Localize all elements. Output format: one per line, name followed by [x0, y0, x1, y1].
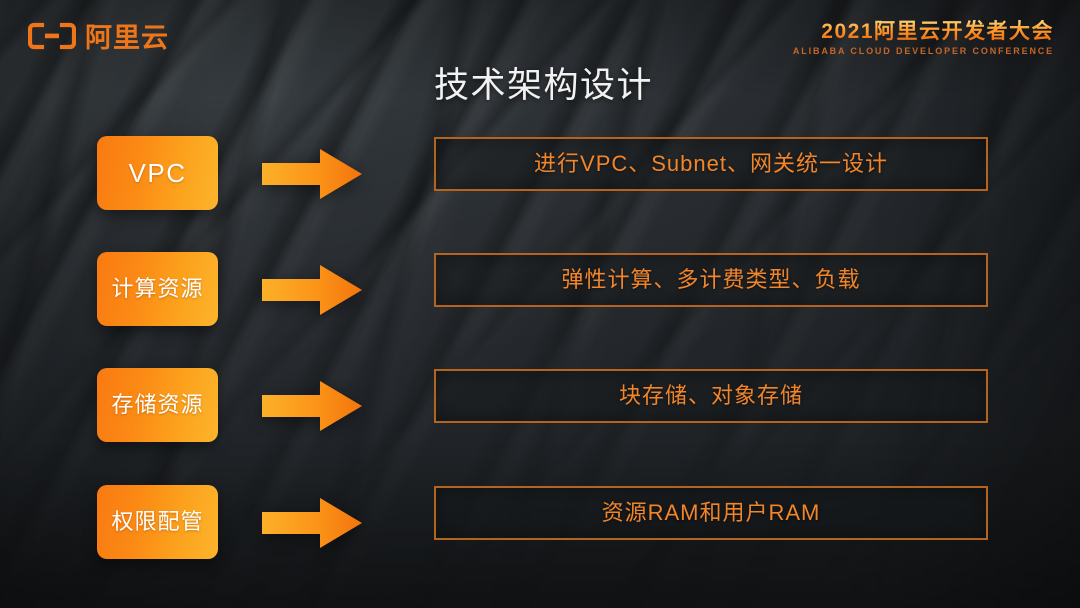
right-arrow-icon: [262, 149, 362, 199]
content-rows: VPC 进行VPC、Subnet、网关统一设计: [0, 0, 1080, 608]
content-row: 存储资源 块存储、对象存储: [0, 368, 1080, 442]
category-tag-label: 权限配管: [111, 511, 203, 533]
category-tag-storage-resources[interactable]: 存储资源: [97, 368, 218, 442]
content-row: 计算资源 弹性计算、多计费类型、负载: [0, 252, 1080, 326]
description-label: 块存储、对象存储: [619, 385, 803, 407]
category-tag-compute-resources[interactable]: 计算资源: [97, 252, 218, 326]
description-label: 进行VPC、Subnet、网关统一设计: [534, 153, 888, 175]
description-box: 资源RAM和用户RAM: [434, 486, 988, 540]
description-box: 块存储、对象存储: [434, 369, 988, 423]
description-label: 资源RAM和用户RAM: [602, 502, 821, 524]
description-label: 弹性计算、多计费类型、负载: [561, 269, 860, 291]
content-row: VPC 进行VPC、Subnet、网关统一设计: [0, 136, 1080, 210]
category-tag-label: 存储资源: [111, 394, 203, 416]
right-arrow-icon: [262, 498, 362, 548]
category-tag-label: 计算资源: [111, 278, 203, 300]
right-arrow-icon: [262, 265, 362, 315]
description-box: 弹性计算、多计费类型、负载: [434, 253, 988, 307]
category-tag-label: VPC: [129, 160, 187, 186]
content-row: 权限配管 资源RAM和用户RAM: [0, 485, 1080, 559]
category-tag-permission-management[interactable]: 权限配管: [97, 485, 218, 559]
right-arrow-icon: [262, 381, 362, 431]
slide-canvas: 阿里云 2021阿里云开发者大会 ALIBABA CLOUD DEVELOPER…: [0, 0, 1080, 608]
description-box: 进行VPC、Subnet、网关统一设计: [434, 137, 988, 191]
category-tag-vpc[interactable]: VPC: [97, 136, 218, 210]
